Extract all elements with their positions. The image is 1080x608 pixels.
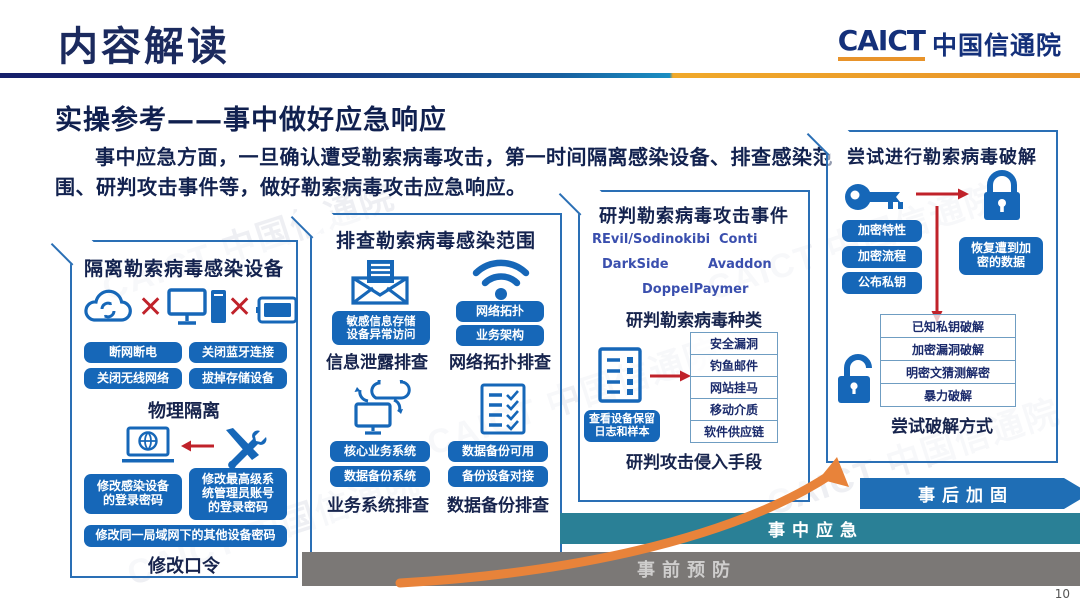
checklist-icon	[480, 383, 526, 435]
pill-recover-encrypted-data[interactable]: 恢复遭到加 密的数据	[959, 237, 1043, 275]
banner-pre-prevention: 事前预防	[302, 552, 1080, 586]
caption-backup-check: 数据备份排查	[436, 491, 560, 516]
pill-business-arch[interactable]: 业务架构	[456, 325, 544, 346]
method-box-known-plaintext[interactable]: 明密文猜测解密	[880, 360, 1016, 384]
vector-box-web-trojan[interactable]: 网站挂马	[690, 376, 778, 399]
panel-scope: 排查勒索病毒感染范围 敏感信息存储 设备异常访问 信息泄露排查 网络拓扑 业务架…	[310, 213, 562, 564]
pill-publish-private-key[interactable]: 公布私钥	[842, 272, 922, 294]
closed-lock-icon	[978, 170, 1026, 222]
banner-mid-emergency-label: 事中应急	[768, 516, 864, 541]
caict-logo: CAICT 中国信通院	[838, 27, 1062, 61]
pill-sensitive-access[interactable]: 敏感信息存储 设备异常访问	[332, 311, 430, 345]
x-mark-icon: ✕	[138, 290, 163, 325]
wifi-icon	[472, 259, 530, 301]
caption-topology-check: 网络拓扑排查	[440, 348, 560, 373]
tablet-icon	[256, 296, 298, 324]
malware-family-avaddon: Avaddon	[708, 257, 772, 272]
malware-family-revil: REvil/Sodinokibi	[592, 232, 710, 247]
down-arrow-icon	[928, 204, 946, 324]
laptop-globe-icon	[120, 426, 176, 466]
pill-backup-device-link[interactable]: 备份设备对接	[448, 466, 548, 487]
pill-isolate-1[interactable]: 断网断电	[84, 342, 182, 363]
vector-box-vulnerability[interactable]: 安全漏洞	[690, 332, 778, 355]
pill-change-pw-lan[interactable]: 修改同一局域网下的其他设备密码	[84, 525, 287, 547]
caption-business-check: 业务系统排查	[316, 491, 440, 516]
tools-icon	[220, 426, 268, 468]
pill-encryption-traits[interactable]: 加密特性	[842, 220, 922, 242]
pill-encryption-process[interactable]: 加密流程	[842, 246, 922, 268]
pill-change-pw-infected[interactable]: 修改感染设备 的登录密码	[84, 474, 182, 514]
header-divider	[0, 73, 1080, 78]
pill-isolate-3[interactable]: 关闭无线网络	[84, 368, 182, 389]
open-lock-icon	[836, 354, 880, 406]
pill-data-backup-system[interactable]: 数据备份系统	[330, 466, 430, 487]
log-document-icon	[598, 347, 642, 403]
panel-isolate: 隔离勒索病毒感染设备 ✕ ✕ 断网断电 关闭蓝牙连接 关闭无线网络 拔掉存储设备…	[70, 240, 298, 578]
desktop-pc-icon	[167, 286, 229, 330]
vector-box-removable-media[interactable]: 移动介质	[690, 398, 778, 421]
malware-family-doppelpaymer: DoppelPaymer	[642, 282, 748, 297]
left-arrow-icon	[180, 438, 216, 454]
panel-scope-title: 排查勒索病毒感染范围	[312, 226, 560, 253]
pill-isolate-4[interactable]: 拔掉存储设备	[189, 368, 287, 389]
banner-pre-prevention-label: 事前预防	[637, 556, 737, 582]
panel-decrypt: 尝试进行勒索病毒破解 加密特性 加密流程 公布私钥 恢复遭到加 密的数据	[826, 130, 1058, 463]
pill-backup-available[interactable]: 数据备份可用	[448, 441, 548, 462]
caption-info-leak: 信息泄露排查	[318, 348, 436, 373]
vector-box-phishing[interactable]: 钓鱼邮件	[690, 354, 778, 377]
malware-family-conti: Conti	[719, 232, 757, 247]
logo-mark-text: CAICT	[838, 27, 925, 61]
pill-isolate-2[interactable]: 关闭蓝牙连接	[189, 342, 287, 363]
key-icon	[844, 182, 910, 212]
caption-determine-family: 研判勒索病毒种类	[580, 306, 808, 331]
method-box-crypto-flaw[interactable]: 加密漏洞破解	[880, 337, 1016, 361]
page-title: 内容解读	[58, 14, 230, 72]
logo-chinese-text: 中国信通院	[932, 33, 1062, 61]
pill-view-logs-samples[interactable]: 查看设备保留 日志和样本	[584, 410, 660, 442]
pill-core-business-system[interactable]: 核心业务系统	[330, 441, 430, 462]
slide-root: CAICT 中国信通院 CAICT 中国信通院 CAICT 中国信通院 CAIC…	[0, 0, 1080, 608]
panel-decrypt-title: 尝试进行勒索病毒破解	[828, 143, 1056, 169]
caption-determine-vector: 研判攻击侵入手段	[580, 448, 808, 473]
cloud-sync-icon	[80, 288, 136, 328]
pill-change-pw-admin[interactable]: 修改最高级系 统管理员账号 的登录密码	[189, 468, 287, 520]
x-mark-icon: ✕	[227, 290, 252, 325]
envelope-document-icon	[350, 259, 410, 305]
method-box-known-key[interactable]: 已知私钥破解	[880, 314, 1016, 338]
vector-box-supply-chain[interactable]: 软件供应链	[690, 420, 778, 443]
section-subtitle: 实操参考——事中做好应急响应	[55, 98, 447, 137]
caption-change-password: 修改口令	[72, 552, 296, 578]
malware-family-darkside: DarkSide	[602, 257, 669, 272]
banner-post-hardening: 事后加固	[860, 478, 1080, 509]
caption-physical-isolation: 物理隔离	[72, 397, 296, 423]
method-box-brute-force[interactable]: 暴力破解	[880, 383, 1016, 407]
pill-network-topology[interactable]: 网络拓扑	[456, 301, 544, 322]
banner-mid-emergency: 事中应急	[560, 513, 1080, 544]
panel-assess-title: 研判勒索病毒攻击事件	[580, 202, 808, 228]
panel-assess: 研判勒索病毒攻击事件 REvil/Sodinokibi Conti DarkSi…	[578, 190, 810, 502]
cloud-monitor-sync-icon	[346, 380, 416, 436]
right-arrow-icon	[914, 185, 970, 203]
right-arrow-icon	[648, 368, 692, 384]
page-number: 10	[1055, 587, 1070, 601]
caption-decrypt-methods: 尝试破解方式	[828, 412, 1056, 437]
panel-isolate-title: 隔离勒索病毒感染设备	[72, 254, 296, 281]
banner-post-hardening-label: 事后加固	[918, 481, 1014, 506]
